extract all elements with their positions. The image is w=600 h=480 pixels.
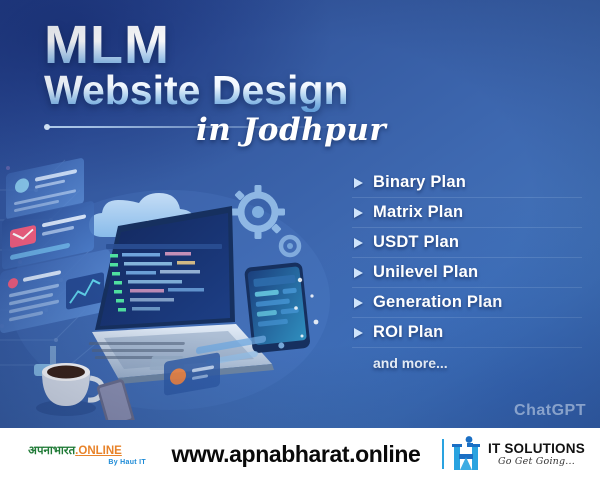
plan-list: Binary Plan Matrix Plan USDT Plan Unilev… (352, 168, 582, 378)
plan-label: USDT Plan (373, 233, 459, 252)
arrow-right-icon (354, 328, 363, 338)
plan-item-generation[interactable]: Generation Plan (352, 288, 582, 318)
plan-item-matrix[interactable]: Matrix Plan (352, 198, 582, 228)
plan-item-binary[interactable]: Binary Plan (352, 168, 582, 198)
plan-item-more: and more... (352, 348, 582, 378)
mlm-website-design-banner: MLM Website Design in Jodhpur Binary Pla… (0, 0, 600, 480)
arrow-right-icon (354, 298, 363, 308)
plan-label: ROI Plan (373, 323, 443, 342)
arrow-right-icon (354, 238, 363, 248)
brand-logo-online: ONLINE (78, 445, 121, 457)
tech-illustration (0, 150, 345, 420)
headline-block: MLM Website Design (44, 18, 444, 112)
website-url[interactable]: www.apnabharat.online (150, 441, 442, 468)
headline-city: in Jodhpur (196, 112, 386, 148)
headline-website-design: Website Design (44, 69, 444, 112)
partner-logo-name: IT SOLUTIONS (488, 442, 585, 456)
plan-item-usdt[interactable]: USDT Plan (352, 228, 582, 258)
brand-logo-apnabharat[interactable]: अपनाभारत.ONLINE By Haut IT (0, 443, 150, 466)
plan-label: Matrix Plan (373, 203, 463, 222)
headline-mlm: MLM (44, 18, 444, 73)
plan-item-unilevel[interactable]: Unilevel Plan (352, 258, 582, 288)
brand-logo-hindi: अपनाभारत (28, 443, 75, 457)
plan-label: Generation Plan (373, 293, 503, 312)
plan-label: Unilevel Plan (373, 263, 478, 282)
and-more-label: and more... (373, 355, 448, 371)
chatgpt-watermark: ChatGPT (514, 402, 586, 420)
plan-label: Binary Plan (373, 173, 466, 192)
partner-logo-text: IT SOLUTIONS Go Get Going... (488, 442, 585, 467)
plan-item-roi[interactable]: ROI Plan (352, 318, 582, 348)
footer-bar: अपनाभारत.ONLINE By Haut IT www.apnabhara… (0, 428, 600, 480)
arrow-right-icon (354, 178, 363, 188)
partner-logo-tagline: Go Get Going... (498, 457, 575, 467)
hero-background: MLM Website Design in Jodhpur Binary Pla… (0, 0, 600, 428)
partner-logo-it-solutions[interactable]: IT SOLUTIONS Go Get Going... (450, 435, 600, 473)
arrow-right-icon (354, 268, 363, 278)
footer-divider (442, 439, 444, 469)
brand-logo-subtitle: By Haut IT (108, 459, 146, 466)
arrow-right-icon (354, 208, 363, 218)
brand-logo-text: अपनाभारत.ONLINE (28, 443, 122, 458)
h-monogram-icon (450, 435, 484, 473)
